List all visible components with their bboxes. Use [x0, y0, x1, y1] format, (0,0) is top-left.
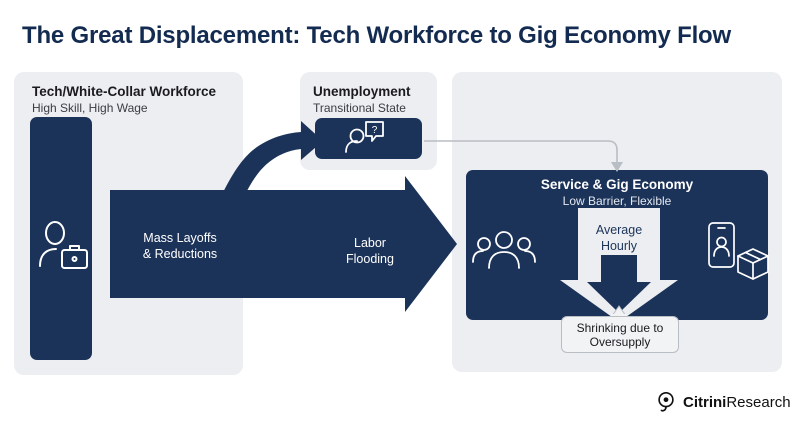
group-of-people-icon	[473, 232, 535, 268]
person-question-bubble-icon: ?	[346, 122, 383, 152]
label-labor-flooding: Labor Flooding	[330, 235, 410, 267]
citrini-monogram-icon	[655, 391, 677, 413]
person-briefcase-icon	[40, 222, 87, 268]
logo-bold-part: Citrini	[683, 394, 726, 411]
citrini-research-logo: CitriniResearch	[655, 389, 791, 415]
label-mass-layoffs: Mass Layoffs & Reductions	[125, 230, 235, 262]
phone-person-package-icon	[709, 223, 768, 279]
logo-wordmark: CitriniResearch	[683, 394, 791, 411]
callout-shrinking-oversupply: Shrinking due to Oversupply	[561, 316, 679, 353]
flow-graphics: ?	[0, 0, 800, 423]
connector-arrowhead-icon	[611, 162, 623, 172]
svg-text:?: ?	[372, 125, 378, 136]
logo-regular-part: Research	[726, 394, 790, 411]
unemployment-to-gig-connector	[424, 141, 617, 163]
label-average-hourly-wage: Average Hourly Wage	[576, 222, 662, 270]
diagram-canvas: The Great Displacement: Tech Workforce t…	[0, 0, 800, 423]
